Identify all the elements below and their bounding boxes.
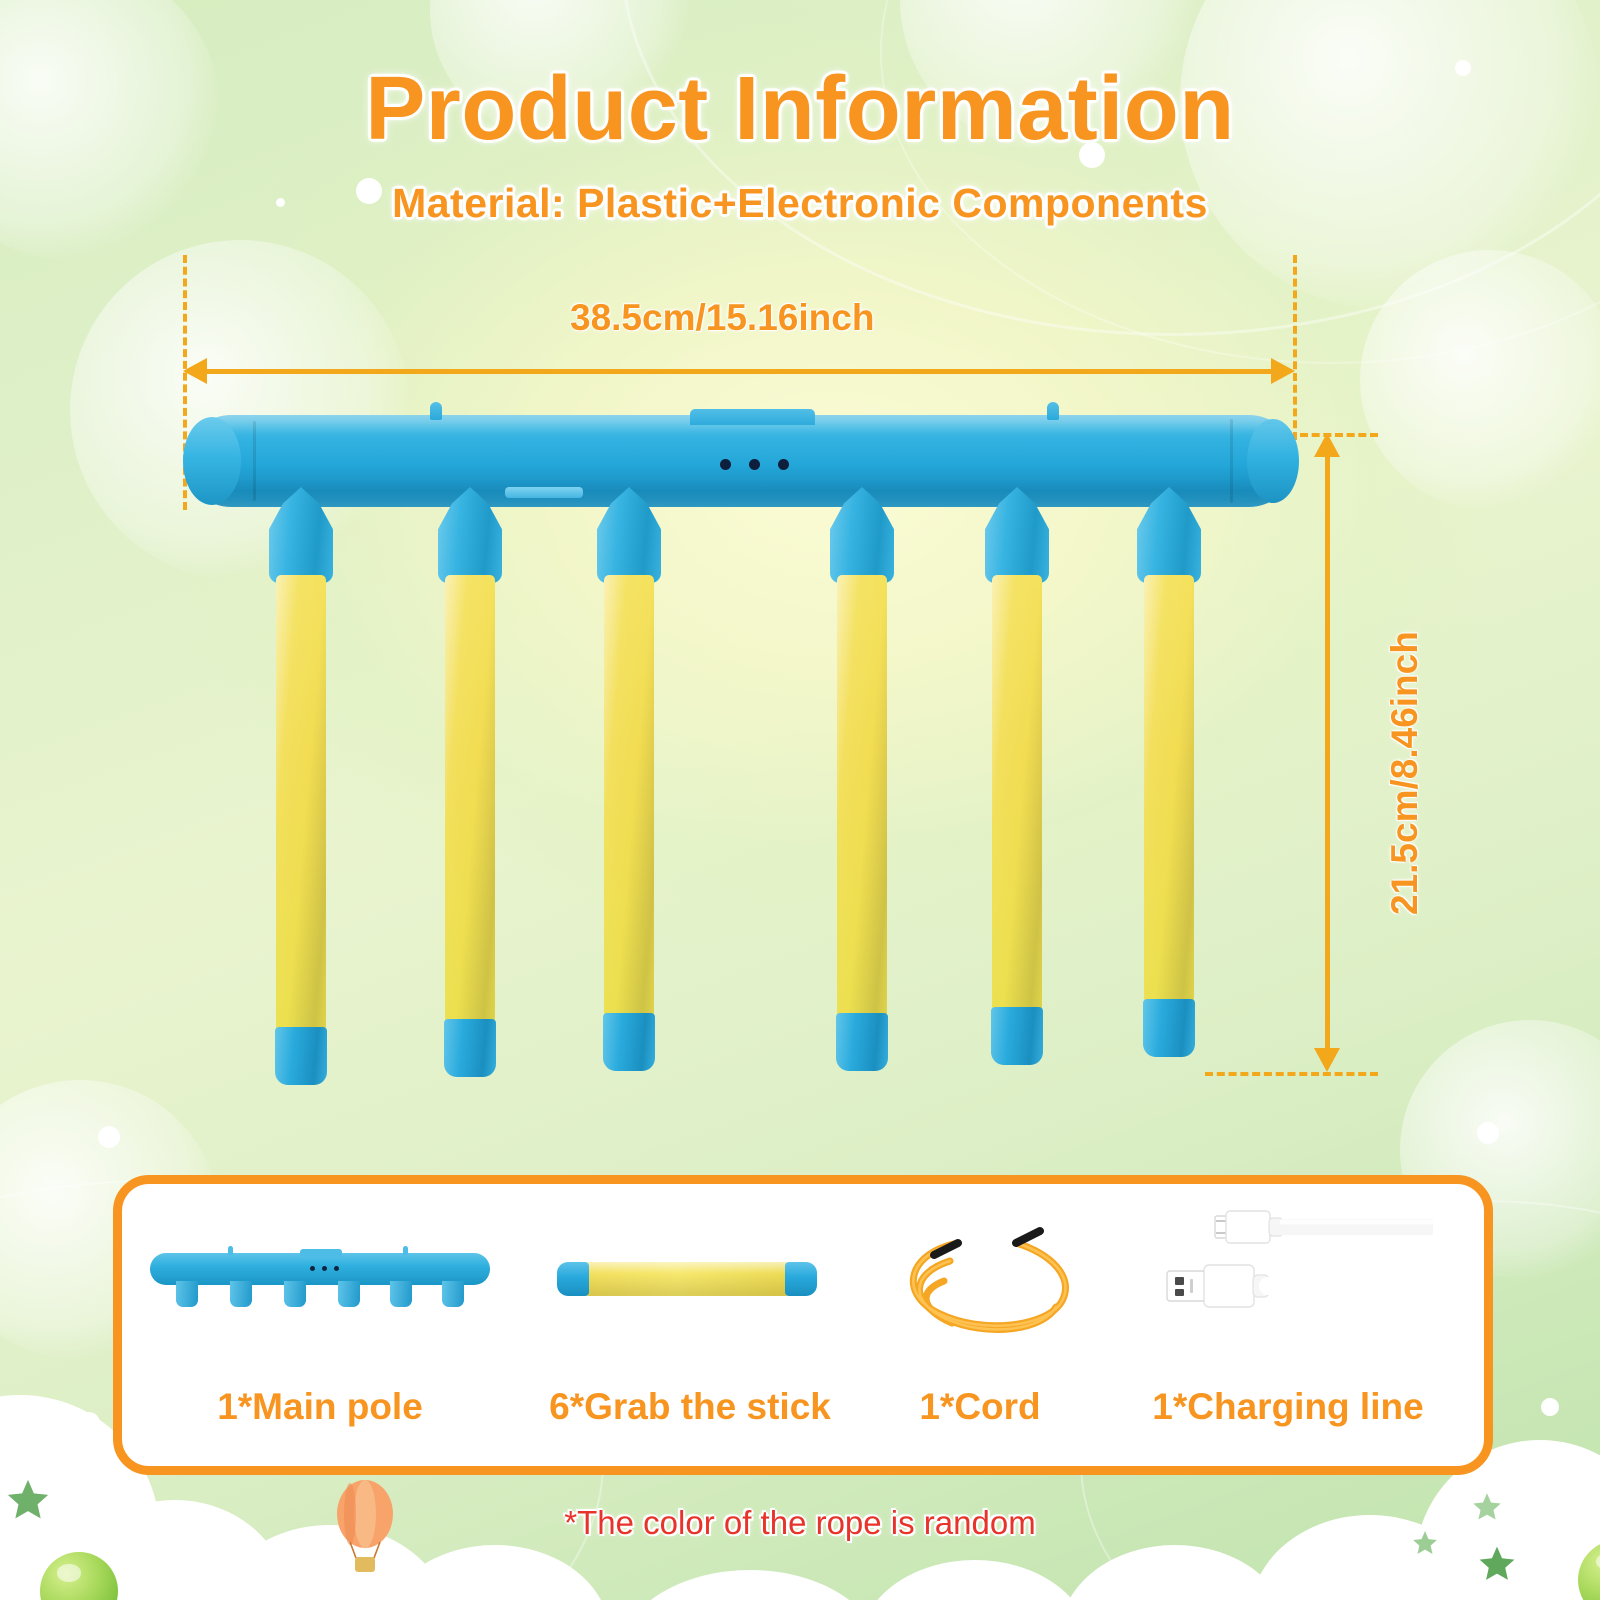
stick-end-cap <box>275 1027 327 1085</box>
height-dimension-line <box>1325 453 1330 1051</box>
width-arrow-left-icon <box>183 358 207 384</box>
product-information-infographic: Product Information Material: Plastic+El… <box>0 0 1600 1600</box>
cord-icon <box>890 1195 1090 1350</box>
led-indicator-group <box>720 459 789 470</box>
decorative-dot <box>98 1126 120 1148</box>
width-dimension-line <box>203 369 1275 374</box>
width-dimension-label: 38.5cm/15.16inch <box>570 297 874 339</box>
part-label-charging-line: 1*Charging line <box>1128 1386 1448 1428</box>
decorative-dot <box>1541 1398 1559 1416</box>
mini-pole-leg <box>284 1281 306 1307</box>
grab-stick-cap-right <box>785 1262 817 1296</box>
cloud-shape <box>860 1560 1090 1600</box>
stick-end-cap <box>836 1013 888 1071</box>
mini-pole-leg <box>230 1281 252 1307</box>
stick-end-cap <box>991 1007 1043 1065</box>
dimension-guide-right <box>1293 255 1297 440</box>
page-title: Product Information <box>0 62 1600 157</box>
stick-end-cap <box>1143 999 1195 1057</box>
main-pole-right-cap <box>1247 419 1299 503</box>
mini-pole-leg <box>442 1281 464 1307</box>
decorative-dot <box>78 1412 100 1434</box>
cloud-shape <box>1060 1545 1290 1600</box>
star-icon <box>1478 1545 1516 1583</box>
mini-pole-leg <box>390 1281 412 1307</box>
stick-foam-body <box>276 575 326 1035</box>
stick-foam-body <box>604 575 654 1021</box>
main-pole-panel <box>690 409 815 425</box>
main-pole-seam <box>1230 419 1233 503</box>
main-pole-nub <box>430 402 442 420</box>
decorative-dot <box>1477 1122 1499 1144</box>
cloud-shape <box>380 1545 610 1600</box>
green-ball-decoration <box>40 1552 118 1600</box>
part-label-main-pole: 1*Main pole <box>160 1386 480 1428</box>
charging-cable-icon <box>1163 1205 1433 1320</box>
height-arrow-up-icon <box>1314 433 1340 457</box>
stick-foam-body <box>992 575 1042 1015</box>
mini-pole-nub <box>403 1246 408 1255</box>
height-arrow-down-icon <box>1314 1048 1340 1072</box>
main-pole-left-cap <box>183 417 241 505</box>
stick-foam-body <box>1144 575 1194 1007</box>
stick-foam-body <box>445 575 495 1027</box>
part-label-grab-stick: 6*Grab the stick <box>515 1386 865 1428</box>
rope-color-disclaimer: *The color of the rope is random <box>0 1504 1600 1542</box>
main-pole-nub <box>1047 402 1059 420</box>
grab-stick-cap-left <box>557 1262 589 1296</box>
mini-led-indicator-group <box>310 1266 339 1271</box>
main-pole-seam <box>253 421 256 501</box>
stick-foam-body <box>837 575 887 1021</box>
width-arrow-right-icon <box>1271 358 1295 384</box>
stick-end-cap <box>603 1013 655 1071</box>
mini-pole-nub <box>228 1246 233 1255</box>
main-pole-slot <box>505 487 583 498</box>
cloud-shape <box>620 1570 880 1600</box>
product-illustration <box>185 415 1295 1085</box>
mini-pole-panel <box>300 1249 342 1257</box>
grab-stick-body <box>583 1262 791 1296</box>
part-label-cord: 1*Cord <box>855 1386 1105 1428</box>
grab-stick-icon <box>557 1262 817 1296</box>
material-subtitle: Material: Plastic+Electronic Components <box>0 180 1600 227</box>
bokeh-circle <box>1360 250 1600 510</box>
decorative-arc <box>620 0 1600 336</box>
height-dimension-label: 21.5cm/8.46inch <box>1384 631 1426 915</box>
main-pole-icon <box>150 1253 490 1309</box>
mini-pole-leg <box>338 1281 360 1307</box>
stick-end-cap <box>444 1019 496 1077</box>
mini-pole-leg <box>176 1281 198 1307</box>
green-ball-decoration <box>1578 1540 1600 1600</box>
